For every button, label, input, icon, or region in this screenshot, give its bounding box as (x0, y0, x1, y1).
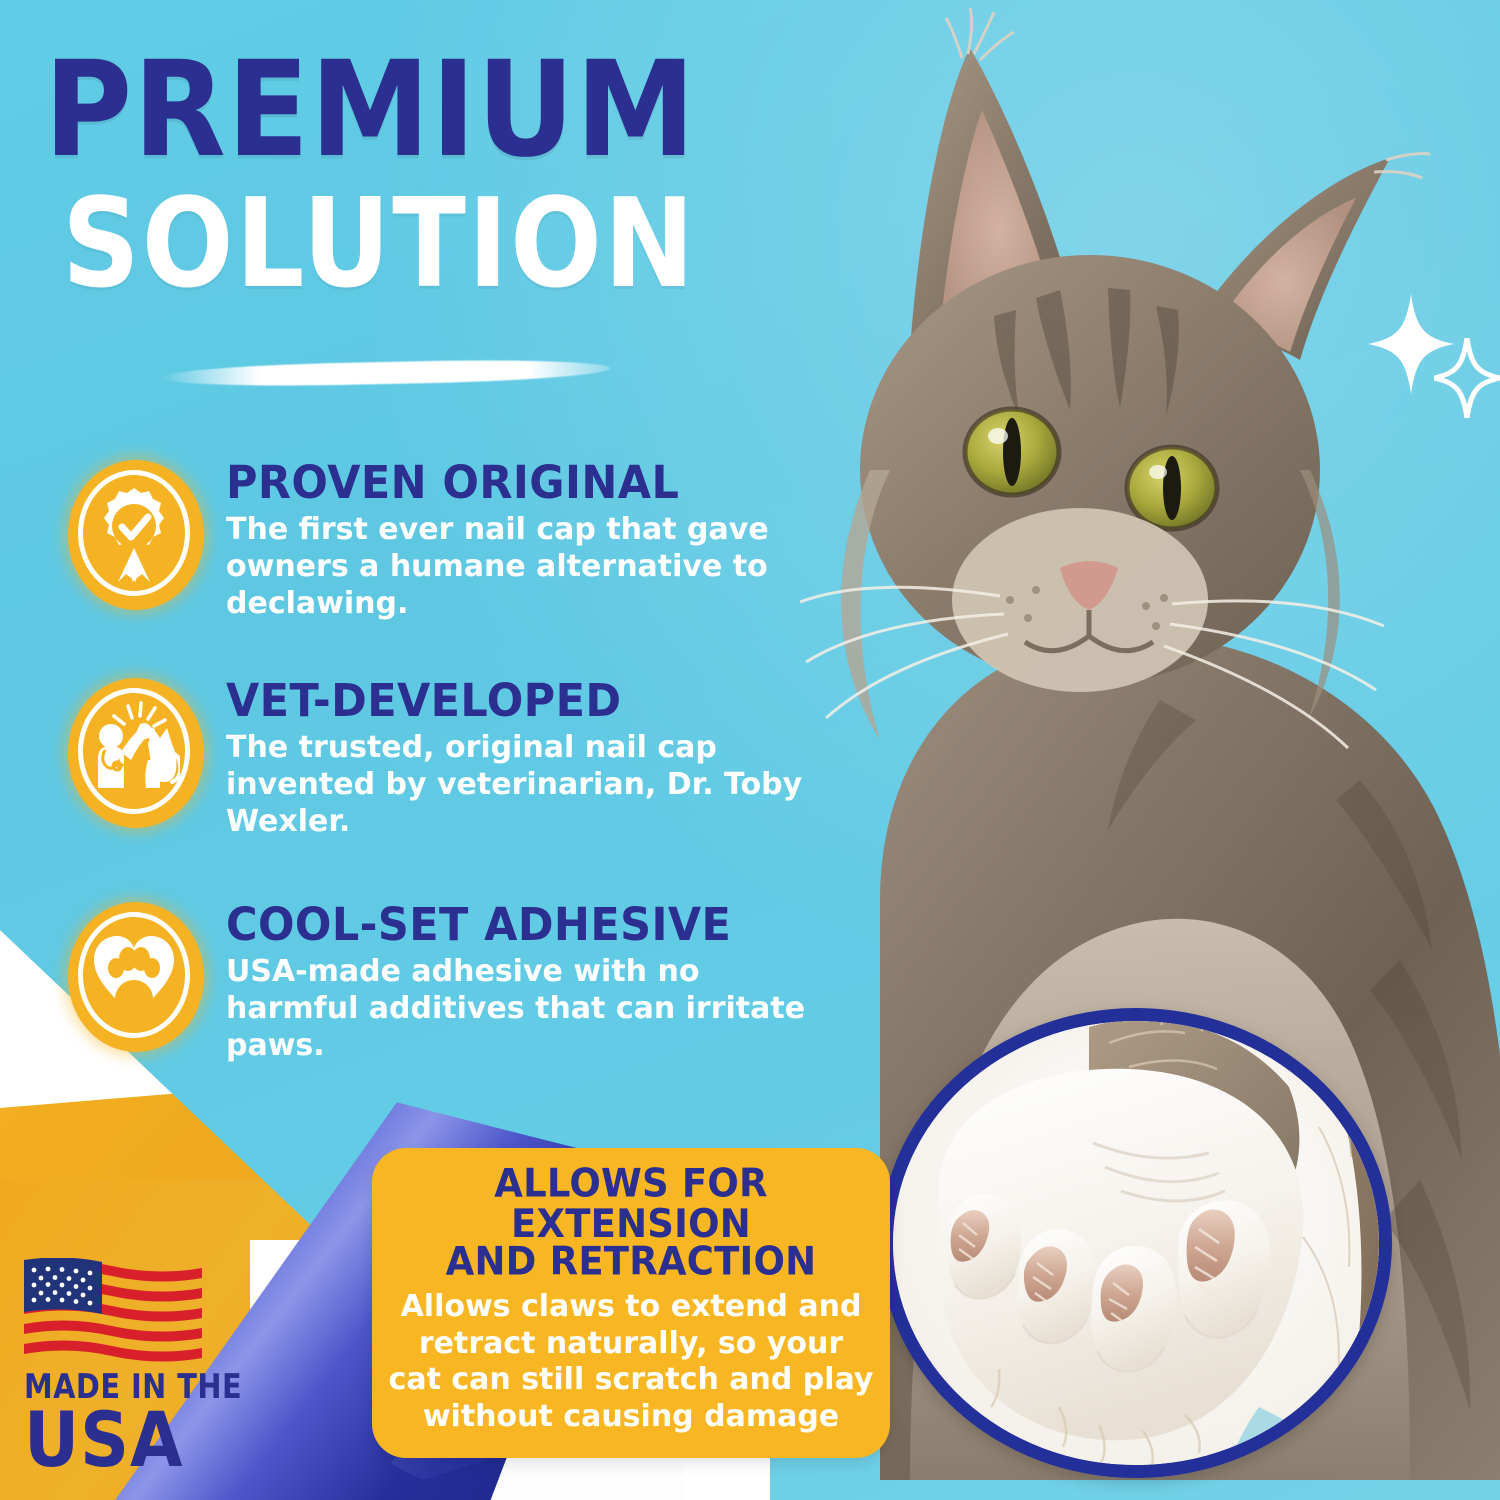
headline-line-2: SOLUTION (62, 190, 864, 298)
heart-pawprint-icon (56, 894, 216, 1066)
usa-flag-icon (22, 1258, 204, 1362)
feature-item-proven-original: PROVEN ORIGINAL The first ever nail cap … (56, 452, 856, 624)
vet-highfive-cat-icon (56, 670, 216, 842)
feature-item-vet-developed: VET-DEVELOPED The trusted, original nail… (56, 670, 856, 842)
feature-body: The first ever nail cap that gave owners… (226, 511, 826, 623)
callout-title-line-1: ALLOWS FOR EXTENSION (388, 1164, 874, 1244)
feature-title: PROVEN ORIGINAL (226, 461, 856, 507)
headline-line-1: PREMIUM (44, 52, 880, 168)
feature-body: The trusted, original nail cap invented … (226, 729, 826, 841)
feature-title: COOL-SET ADHESIVE (226, 903, 856, 949)
extension-retraction-callout: ALLOWS FOR EXTENSION AND RETRACTION Allo… (372, 1148, 890, 1458)
callout-title-line-2: AND RETRACTION (388, 1242, 874, 1282)
feature-title: VET-DEVELOPED (226, 679, 856, 725)
cat-paw-with-nail-caps-photo (880, 1008, 1392, 1478)
headline: PREMIUM SOLUTION (44, 52, 864, 285)
product-infographic: PREMIUM SOLUTION PROVEN ORIGINAL The fir… (0, 0, 1500, 1500)
made-in-usa-line-2: USA (24, 1402, 313, 1478)
feature-body: USA-made adhesive with no harmful additi… (226, 953, 826, 1065)
award-ribbon-check-icon (56, 452, 216, 624)
feature-item-cool-set-adhesive: COOL-SET ADHESIVE USA-made adhesive with… (56, 894, 856, 1066)
feature-list: PROVEN ORIGINAL The first ever nail cap … (56, 452, 856, 1112)
sparkle-star-outline-icon (1434, 338, 1500, 418)
made-in-usa-badge: MADE IN THE USA (22, 1258, 322, 1475)
callout-body: Allows claws to extend and retract natur… (388, 1289, 874, 1435)
